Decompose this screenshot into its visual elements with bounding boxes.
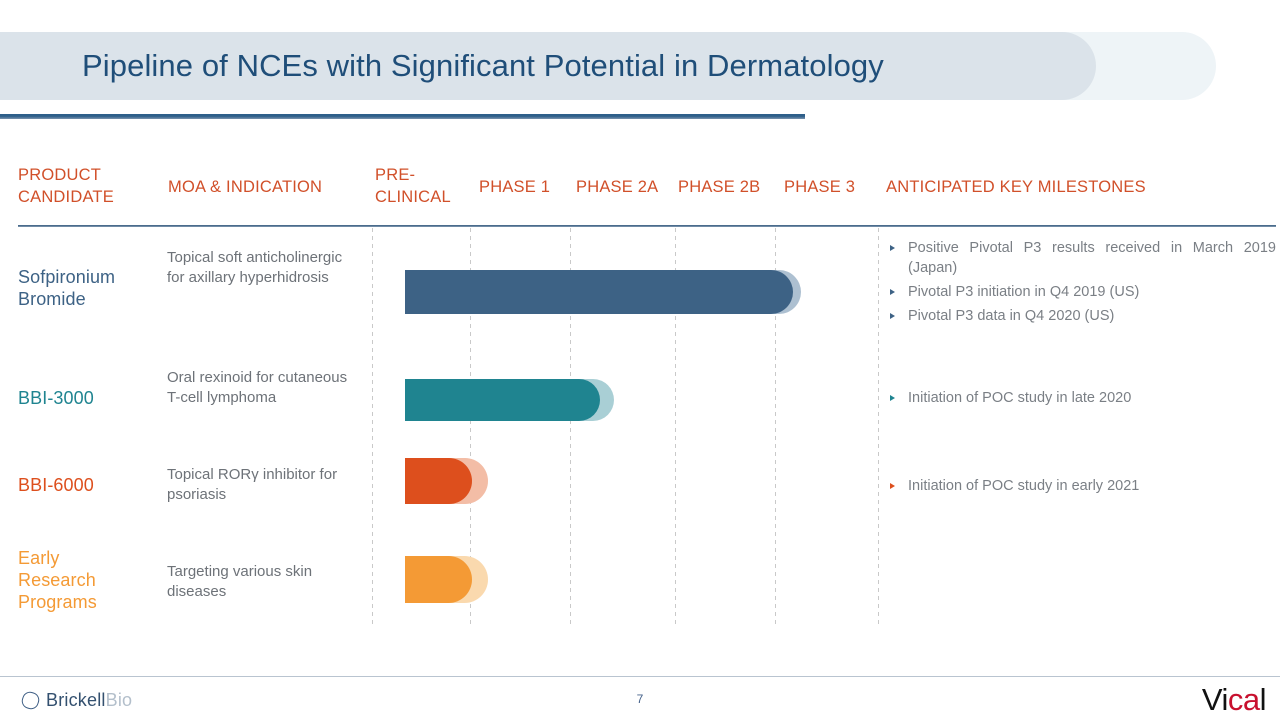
vical-logo-accent: ca bbox=[1228, 682, 1260, 717]
column-header-phase-2a: PHASE 2A bbox=[576, 177, 658, 199]
moa-indication-bbi-6000: Topical RORγ inhibitor for psoriasis bbox=[167, 465, 362, 505]
product-name-bbi-3000: BBI-3000 bbox=[18, 387, 94, 409]
page-title: Pipeline of NCEs with Significant Potent… bbox=[82, 32, 884, 100]
product-name-early-research-programs: EarlyResearchPrograms bbox=[18, 547, 97, 613]
page-number: 7 bbox=[0, 692, 1280, 706]
milestone-text: Initiation of POC study in early 2021 bbox=[908, 478, 1139, 494]
milestone-text: Initiation of POC study in late 2020 bbox=[908, 390, 1131, 406]
moa-indication-bbi-3000: Oral rexinoid for cutaneous T-cell lymph… bbox=[167, 368, 362, 408]
milestones-sofpironium-bromide: Positive Pivotal P3 results received in … bbox=[884, 238, 1276, 330]
moa-indication-early-research-programs: Targeting various skin diseases bbox=[167, 562, 362, 602]
column-header-phase-3: PHASE 3 bbox=[784, 177, 855, 199]
vical-logo-pre: Vi bbox=[1202, 682, 1228, 717]
bullet-triangle-icon bbox=[890, 289, 895, 295]
progress-bar-completed-early-research-programs bbox=[405, 556, 472, 603]
milestone-item: Initiation of POC study in early 2021 bbox=[884, 476, 1276, 496]
milestone-item: Initiation of POC study in late 2020 bbox=[884, 388, 1276, 408]
progress-bar-completed-bbi-3000 bbox=[405, 379, 600, 421]
milestone-text: Pivotal P3 initiation in Q4 2019 (US) bbox=[908, 284, 1139, 300]
moa-indication-sofpironium-bromide: Topical soft anticholinergic for axillar… bbox=[167, 248, 362, 288]
progress-bar-bbi-3000 bbox=[405, 379, 614, 421]
milestones-bbi-3000: Initiation of POC study in late 2020 bbox=[884, 388, 1276, 412]
column-header-phase-2b: PHASE 2B bbox=[678, 177, 760, 199]
milestone-text: Pivotal P3 data in Q4 2020 (US) bbox=[908, 308, 1114, 324]
column-header-phase-1: PHASE 1 bbox=[479, 177, 550, 199]
progress-bar-early-research-programs bbox=[405, 556, 488, 603]
title-underline-rule bbox=[0, 114, 805, 119]
progress-bar-bbi-6000 bbox=[405, 458, 488, 504]
bullet-triangle-icon bbox=[890, 483, 895, 489]
product-name-sofpironium-bromide: SofpironiumBromide bbox=[18, 266, 115, 310]
column-header-pre-clinical: PRE-CLINICAL bbox=[375, 165, 451, 209]
product-name-bbi-6000: BBI-6000 bbox=[18, 474, 94, 496]
gridline-0 bbox=[372, 228, 373, 628]
column-header-key-milestones: ANTICIPATED KEY MILESTONES bbox=[886, 177, 1146, 199]
column-header-moa-indication: MOA & INDICATION bbox=[168, 177, 322, 199]
bullet-triangle-icon bbox=[890, 245, 895, 251]
footer-divider-rule bbox=[0, 676, 1280, 677]
milestone-text: Positive Pivotal P3 results received in … bbox=[908, 240, 1276, 276]
column-header-product-candidate: PRODUCTCANDIDATE bbox=[18, 165, 114, 209]
column-headers: PRODUCTCANDIDATEMOA & INDICATIONPRE-CLIN… bbox=[0, 165, 1280, 223]
milestone-item: Pivotal P3 data in Q4 2020 (US) bbox=[884, 306, 1276, 326]
title-banner: Pipeline of NCEs with Significant Potent… bbox=[0, 32, 1216, 100]
vical-logo: Vical bbox=[1202, 682, 1266, 718]
progress-bar-completed-sofpironium-bromide bbox=[405, 270, 793, 314]
progress-bar-sofpironium-bromide bbox=[405, 270, 801, 314]
progress-bar-completed-bbi-6000 bbox=[405, 458, 472, 504]
bullet-triangle-icon bbox=[890, 395, 895, 401]
header-divider-rule bbox=[18, 225, 1276, 227]
milestones-bbi-6000: Initiation of POC study in early 2021 bbox=[884, 476, 1276, 500]
milestone-item: Pivotal P3 initiation in Q4 2019 (US) bbox=[884, 282, 1276, 302]
vical-logo-post: l bbox=[1260, 682, 1266, 717]
milestone-item: Positive Pivotal P3 results received in … bbox=[884, 238, 1276, 278]
bullet-triangle-icon bbox=[890, 313, 895, 319]
gridline-5 bbox=[878, 228, 879, 628]
